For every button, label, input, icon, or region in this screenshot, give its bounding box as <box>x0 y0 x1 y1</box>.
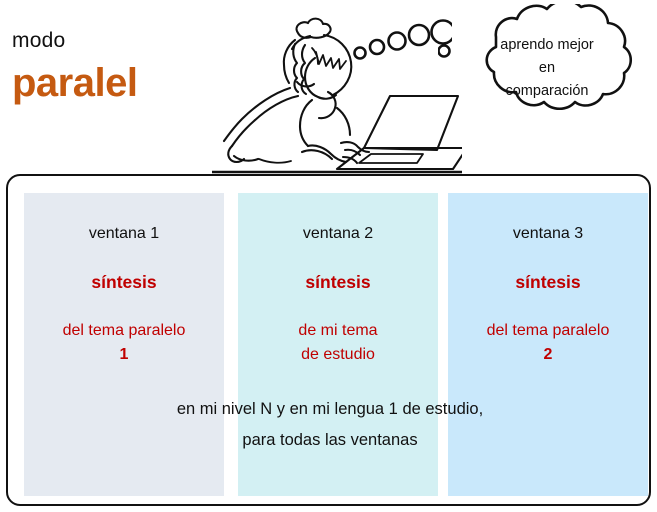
window-heading-3: síntesis <box>448 271 648 293</box>
title-block: modo paralel <box>12 28 212 106</box>
window-heading-2: síntesis <box>238 271 438 293</box>
window-label-3: ventana 3 <box>448 224 648 244</box>
thought-bubble-line-2: en <box>472 57 622 80</box>
thought-bubble-line-1: aprendo mejor <box>472 34 622 57</box>
header-area: modo paralel <box>0 0 657 175</box>
page-title: paralel <box>12 60 212 106</box>
window-column-3[interactable]: ventana 3 síntesis del tema paralelo 2 <box>448 193 648 496</box>
window-column-1[interactable]: ventana 1 síntesis del tema paralelo 1 <box>24 193 224 496</box>
thought-bubble-text: aprendo mejor en comparación <box>472 34 622 103</box>
window-label-2: ventana 2 <box>238 224 438 244</box>
thought-bubble-line-3: comparación <box>472 80 622 103</box>
window-detail-1: del tema paralelo 1 <box>24 319 224 367</box>
window-column-2[interactable]: ventana 2 síntesis de mi tema de estudio <box>238 193 438 496</box>
windows-columns-row: ventana 1 síntesis del tema paralelo 1 v… <box>24 193 636 496</box>
thought-dots-icon <box>352 16 452 62</box>
thought-bubble-icon: aprendo mejor en comparación <box>438 4 657 136</box>
window-detail-2-line-1: de mi tema <box>298 322 377 339</box>
page-kicker: modo <box>12 28 212 54</box>
window-heading-1: síntesis <box>24 271 224 293</box>
window-detail-1-line-1: del tema paralelo <box>63 322 186 339</box>
window-detail-3-line-1: del tema paralelo <box>487 322 610 339</box>
window-detail-2-line-2: de estudio <box>301 346 375 363</box>
window-detail-2: de mi tema de estudio <box>238 319 438 367</box>
windows-panel: ventana 1 síntesis del tema paralelo 1 v… <box>6 174 651 506</box>
window-label-1: ventana 1 <box>24 224 224 244</box>
window-detail-1-line-2: 1 <box>120 346 129 363</box>
window-detail-3-line-2: 2 <box>544 346 553 363</box>
window-detail-3: del tema paralelo 2 <box>448 319 648 367</box>
